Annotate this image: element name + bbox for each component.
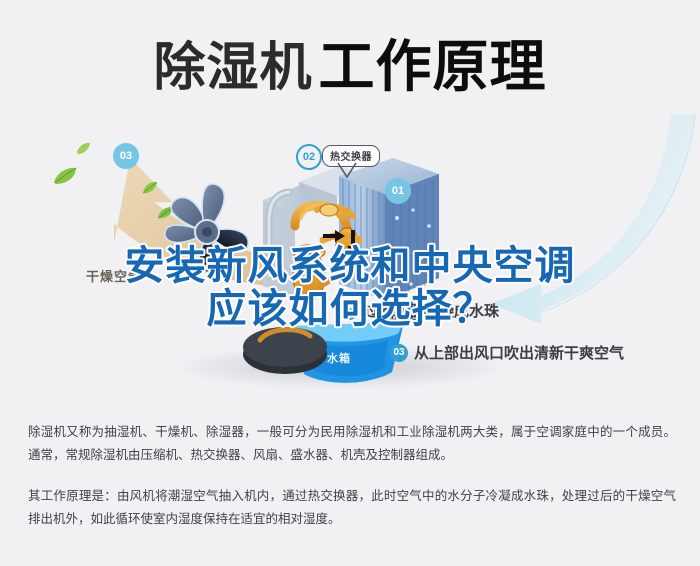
step-02-text: 过蒸发器冷凝成水珠 [364, 300, 499, 321]
badge-step-02: 02 [296, 144, 322, 170]
page-title-part2: 工作原理 [319, 35, 547, 100]
badge-step-01: 01 [385, 178, 411, 204]
page-title: 除湿机工作原理 [0, 22, 700, 103]
water-tank-label: 水箱 [327, 350, 351, 366]
dehumidifier-diagram: 水箱 01 02 03 热交换器 干燥空气 潮湿空气 02 过蒸发器冷凝成水珠 … [0, 118, 700, 398]
step-03-badge: 03 [390, 344, 408, 362]
machine-base [240, 314, 330, 378]
step-line-02: 02 过蒸发器冷凝成水珠 [340, 300, 499, 321]
infographic-page: 除湿机工作原理 [0, 0, 700, 566]
paragraph-2: 其工作原理是：由风机将潮湿空气抽入机内，通过热交换器，此时空气中的水分子冷凝成水… [28, 484, 676, 530]
step-03-text: 从上部出风口吹出清新干爽空气 [414, 342, 624, 363]
page-title-part1: 除湿机 [153, 38, 312, 98]
step-02-badge: 02 [340, 302, 358, 320]
dry-air-label: 干燥空气 [86, 266, 142, 285]
paragraph-1: 除湿机又称为抽湿机、干燥机、除湿器，一般可分为民用除湿机和工业除湿机两大类，属于… [28, 420, 676, 466]
badge-step-03: 03 [113, 143, 139, 169]
leaf-icon [52, 166, 78, 186]
article-body: 除湿机又称为抽湿机、干燥机、除湿器，一般可分为民用除湿机和工业除湿机两大类，属于… [28, 420, 676, 531]
callout-pointer-icon [336, 162, 358, 180]
leaf-icon [76, 142, 91, 155]
step-line-03: 03 从上部出风口吹出清新干爽空气 [390, 342, 624, 363]
